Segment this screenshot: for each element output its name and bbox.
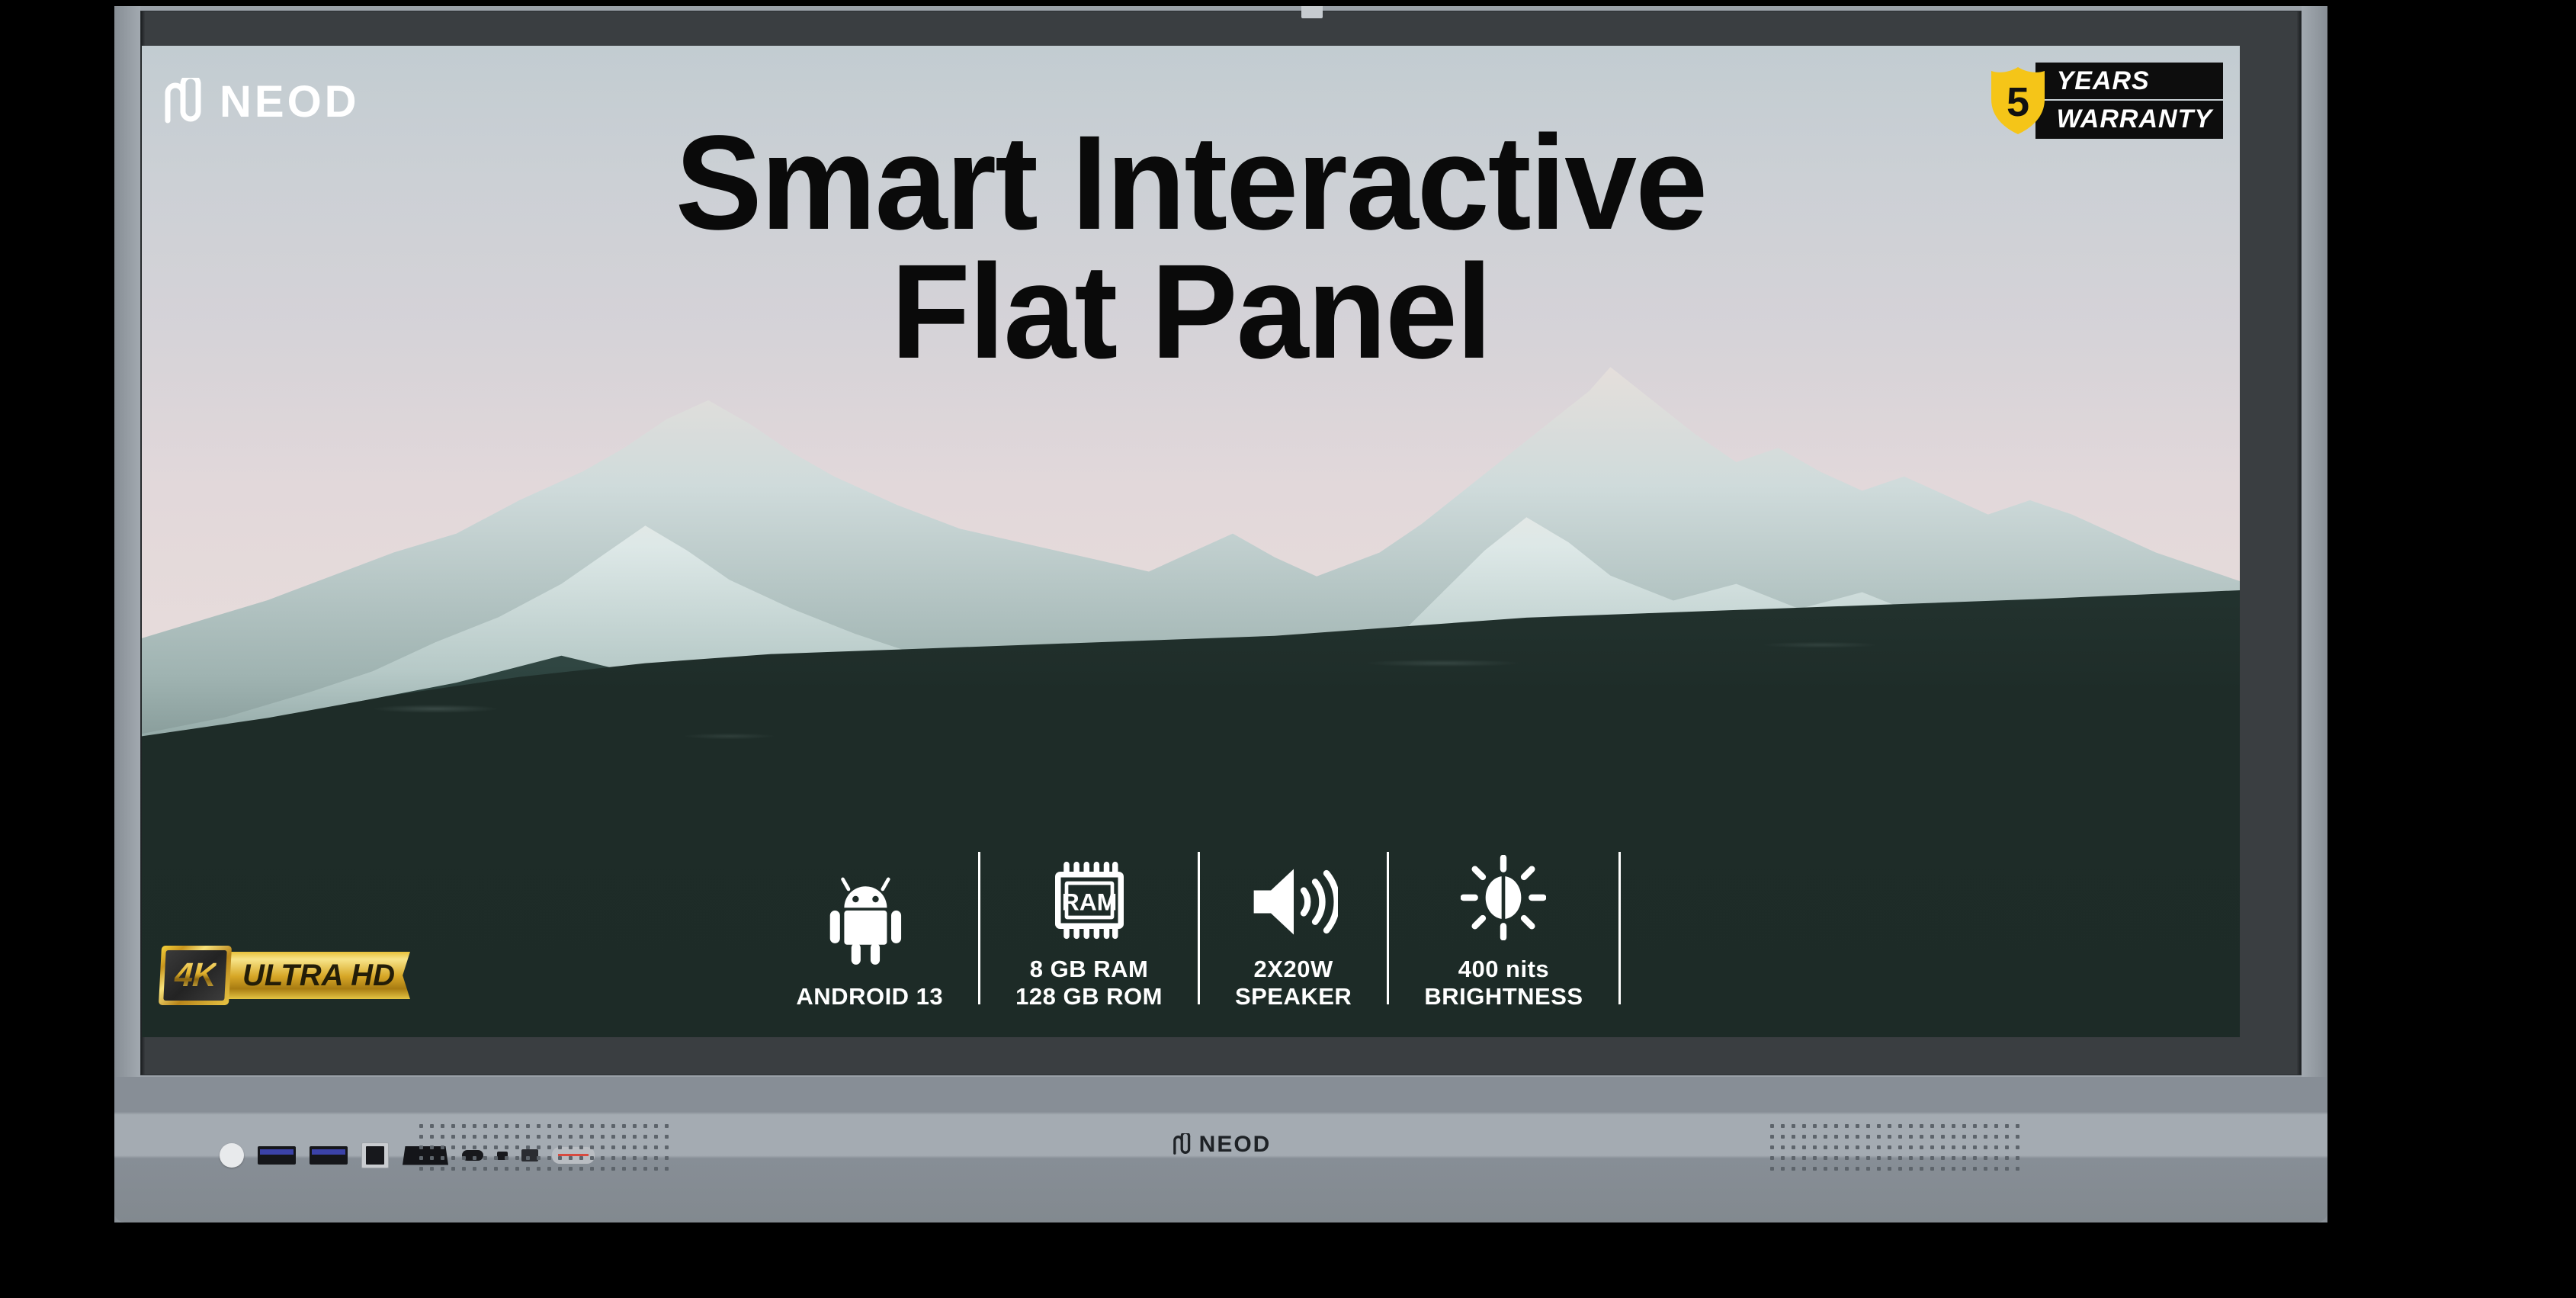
chassis-left-edge <box>114 6 140 1222</box>
feature-label-memory: 8 GB RAM 128 GB ROM <box>1015 956 1163 1011</box>
svg-text:RAM: RAM <box>1061 888 1117 915</box>
screen-overlay-content: NEOD 5 YEARS WARRANTY <box>142 46 2240 1037</box>
display-screen[interactable]: NEOD 5 YEARS WARRANTY <box>142 46 2240 1037</box>
feature-label-speaker-line1: 2X20W <box>1254 956 1333 982</box>
resolution-badge-square: 4K <box>159 946 232 1005</box>
android-robot-icon <box>827 869 913 968</box>
usb-a-port-1[interactable] <box>258 1146 296 1165</box>
feature-strip: ANDROID 13 <box>142 841 2240 1011</box>
chassis-right-edge <box>2302 6 2327 1222</box>
warranty-years-label: YEARS <box>2035 63 2223 99</box>
bottom-bezel: NEOD <box>114 1077 2327 1222</box>
feature-label-brightness-line1: 400 nits <box>1458 956 1549 982</box>
svg-text:5: 5 <box>2007 79 2029 125</box>
feature-label-brightness: 400 nits BRIGHTNESS <box>1424 956 1583 1011</box>
feature-item-brightness: 400 nits BRIGHTNESS <box>1389 841 1618 1011</box>
feature-label-android-line1: ANDROID 13 <box>796 983 943 1010</box>
shield-icon: 5 <box>1988 66 2048 136</box>
feature-item-android: ANDROID 13 <box>761 869 978 1011</box>
resolution-badge-4k-label: 4K <box>174 956 217 994</box>
feature-label-memory-line2: 128 GB ROM <box>1015 983 1163 1010</box>
headline-line-2: Flat Panel <box>173 248 2208 377</box>
speaker-grille-right <box>1770 1124 2023 1174</box>
neod-loop-mark-icon-small <box>1171 1133 1194 1156</box>
speaker-volume-icon <box>1250 841 1338 940</box>
bezel-right-highlight <box>2296 11 2301 1075</box>
feature-label-memory-line1: 8 GB RAM <box>1030 956 1149 982</box>
feature-label-brightness-line2: BRIGHTNESS <box>1424 983 1583 1010</box>
bottom-brand-logo-text: NEOD <box>1199 1132 1272 1158</box>
headline-line-1: Smart Interactive <box>675 108 1706 258</box>
page-title: Smart Interactive Flat Panel <box>173 119 2208 377</box>
feature-label-speaker: 2X20W SPEAKER <box>1235 956 1352 1011</box>
screenshot-stage: NEOD 5 YEARS WARRANTY <box>0 0 2576 1298</box>
feature-item-memory: RAM 8 GB RAM 128 GB ROM <box>980 841 1198 1011</box>
interactive-flat-panel-device: NEOD 5 YEARS WARRANTY <box>114 6 2327 1222</box>
power-button[interactable] <box>220 1143 244 1168</box>
speaker-grille-left <box>419 1124 672 1174</box>
resolution-badge-square-inner: 4K <box>163 950 226 1001</box>
top-sensor-tab <box>1301 6 1323 18</box>
brightness-sun-icon <box>1461 841 1546 940</box>
ethernet-rj45-port[interactable] <box>361 1142 389 1168</box>
feature-divider-4 <box>1618 852 1621 1004</box>
feature-label-android: ANDROID 13 <box>796 983 943 1011</box>
feature-item-speaker: 2X20W SPEAKER <box>1200 841 1387 1011</box>
ram-chip-icon: RAM <box>1044 841 1135 940</box>
feature-label-speaker-line2: SPEAKER <box>1235 983 1352 1010</box>
bottom-brand-logo: NEOD <box>1171 1132 1272 1158</box>
usb-a-port-2[interactable] <box>310 1146 348 1165</box>
